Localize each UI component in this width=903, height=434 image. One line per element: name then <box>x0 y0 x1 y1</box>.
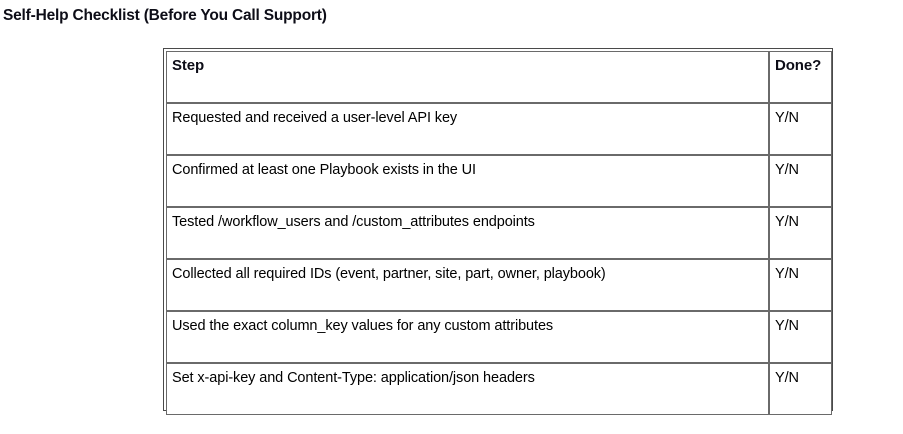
table-row: Set x-api-key and Content-Type: applicat… <box>166 363 832 415</box>
table-body: Requested and received a user-level API … <box>166 103 832 415</box>
table-row: Requested and received a user-level API … <box>166 103 832 155</box>
cell-step: Requested and received a user-level API … <box>166 103 769 155</box>
cell-step: Set x-api-key and Content-Type: applicat… <box>166 363 769 415</box>
checklist-table: Step Done? Requested and received a user… <box>166 51 832 415</box>
cell-step: Tested /workflow_users and /custom_attri… <box>166 207 769 259</box>
cell-done: Y/N <box>769 259 832 311</box>
cell-done: Y/N <box>769 155 832 207</box>
table-row: Tested /workflow_users and /custom_attri… <box>166 207 832 259</box>
cell-done: Y/N <box>769 207 832 259</box>
table-header-row: Step Done? <box>166 51 832 103</box>
cell-done: Y/N <box>769 103 832 155</box>
table-header: Step Done? <box>166 51 832 103</box>
table-row: Confirmed at least one Playbook exists i… <box>166 155 832 207</box>
checklist-table-frame: Step Done? Requested and received a user… <box>163 48 833 411</box>
table-row: Used the exact column_key values for any… <box>166 311 832 363</box>
column-header-done: Done? <box>769 51 832 103</box>
column-header-step: Step <box>166 51 769 103</box>
cell-step: Collected all required IDs (event, partn… <box>166 259 769 311</box>
table-row: Collected all required IDs (event, partn… <box>166 259 832 311</box>
cell-done: Y/N <box>769 311 832 363</box>
page-title: Self-Help Checklist (Before You Call Sup… <box>3 7 327 25</box>
cell-step: Used the exact column_key values for any… <box>166 311 769 363</box>
cell-step: Confirmed at least one Playbook exists i… <box>166 155 769 207</box>
cell-done: Y/N <box>769 363 832 415</box>
